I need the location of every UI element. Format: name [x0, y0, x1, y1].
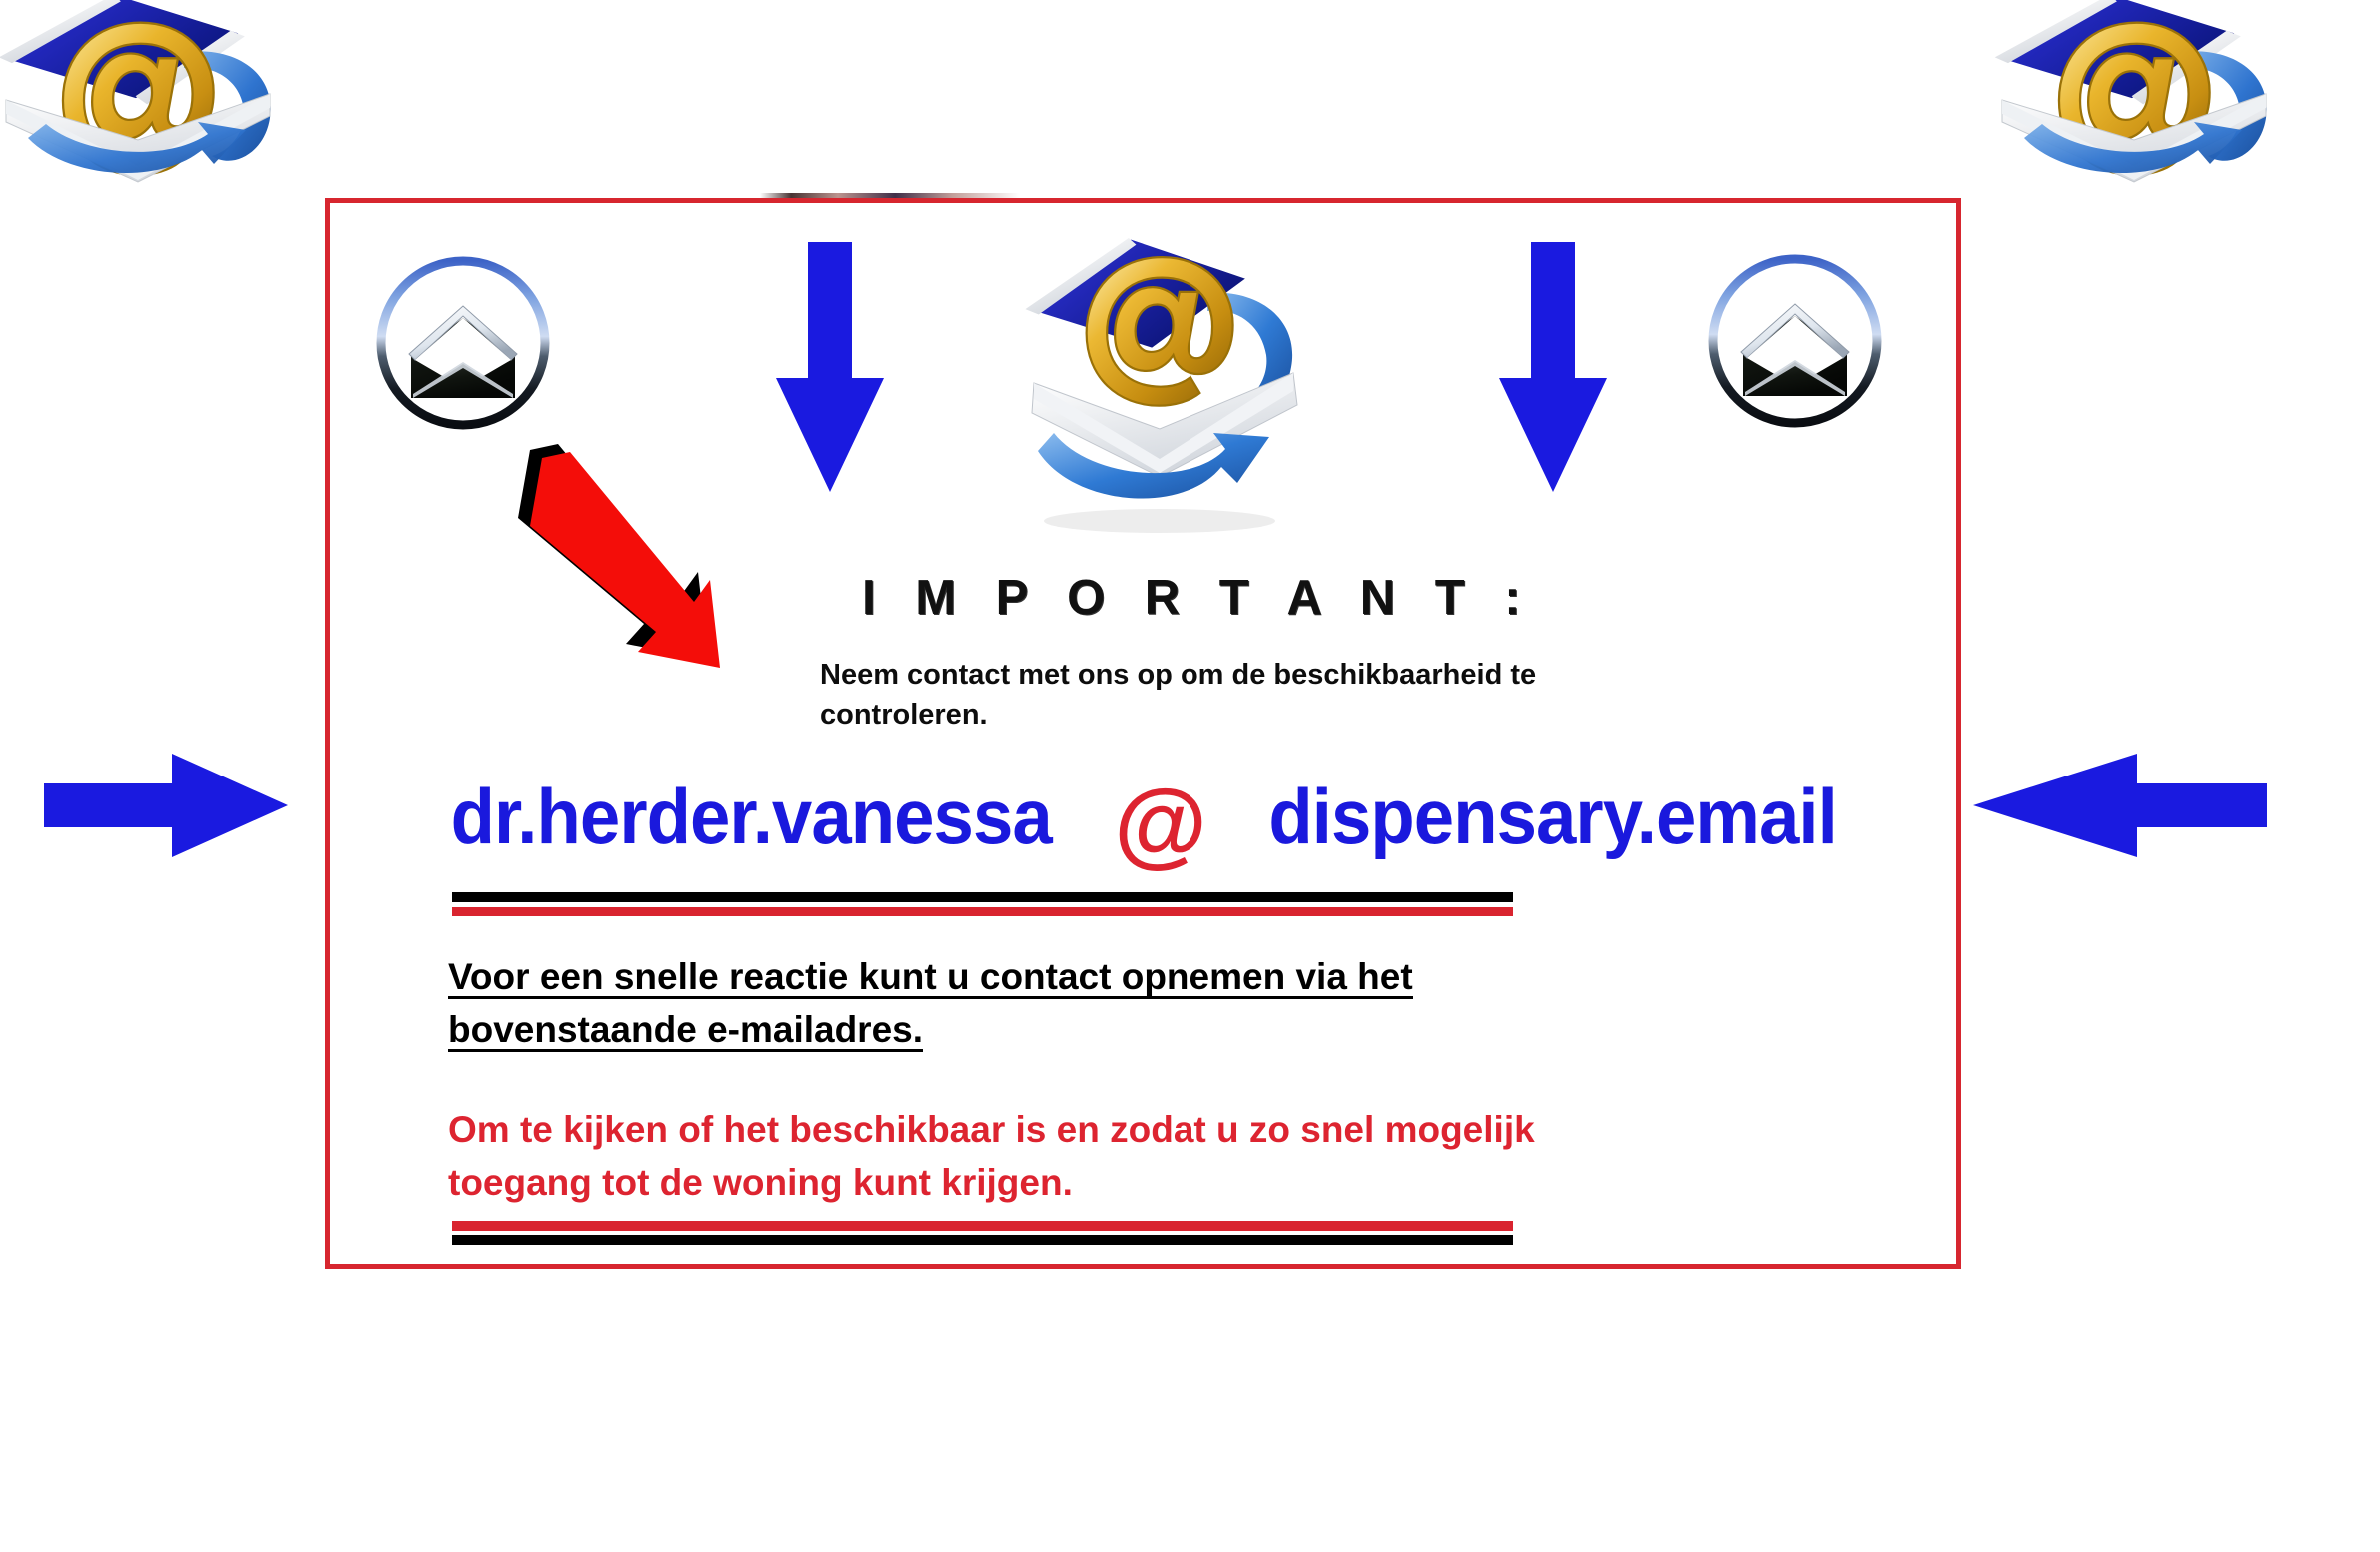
- availability-instruction: Om te kijken of het beschikbaar is en zo…: [448, 1104, 1707, 1209]
- divider-rule-bottom-red: [452, 1221, 1513, 1231]
- divider-rule-top: [452, 892, 1513, 916]
- email-at-envelope-icon-center: [1008, 215, 1307, 545]
- at-sign-icon: @: [1114, 781, 1207, 867]
- email-at-envelope-icon-top-right: [1984, 0, 2284, 225]
- red-arrow-down-right-icon: [442, 440, 742, 680]
- email-domain-part[interactable]: dispensary.email: [1268, 772, 1836, 862]
- email-at-envelope-icon-top-left: [0, 0, 288, 225]
- divider-rule-top-red: [452, 907, 1513, 916]
- poster-canvas: I M P O R T A N T : Neem contact met ons…: [0, 0, 2380, 1552]
- availability-line-1: Om te kijken of het beschikbaar is en zo…: [448, 1104, 1707, 1157]
- email-address-row[interactable]: dr.herder.vanessa @ dispensary.email: [325, 752, 1961, 881]
- divider-rule-bottom: [452, 1221, 1513, 1245]
- blue-arrow-down-icon-right: [1493, 238, 1613, 498]
- availability-line-2: toegang tot de woning kunt krijgen.: [448, 1157, 1707, 1210]
- divider-rule-top-black: [452, 892, 1513, 902]
- important-heading: I M P O R T A N T :: [862, 570, 1534, 626]
- fast-reply-instruction: Voor een snelle reactie kunt u contact o…: [448, 951, 1587, 1056]
- blue-arrow-right-icon: [42, 748, 292, 863]
- divider-rule-bottom-black: [452, 1235, 1513, 1245]
- blue-arrow-down-icon-left: [770, 238, 890, 498]
- circle-envelope-badge-icon-left: [363, 248, 563, 438]
- fast-reply-line-1: Voor een snelle reactie kunt u contact o…: [448, 956, 1413, 999]
- email-local-part[interactable]: dr.herder.vanessa: [450, 772, 1051, 862]
- frame-smudge-artifact: [760, 193, 1020, 198]
- availability-check-note: Neem contact met ons op om de beschikbaa…: [820, 655, 1639, 735]
- fast-reply-line-2: bovenstaande e-mailadres.: [448, 1009, 923, 1052]
- blue-arrow-left-icon: [1969, 748, 2269, 863]
- circle-envelope-badge-icon-right: [1695, 245, 1895, 437]
